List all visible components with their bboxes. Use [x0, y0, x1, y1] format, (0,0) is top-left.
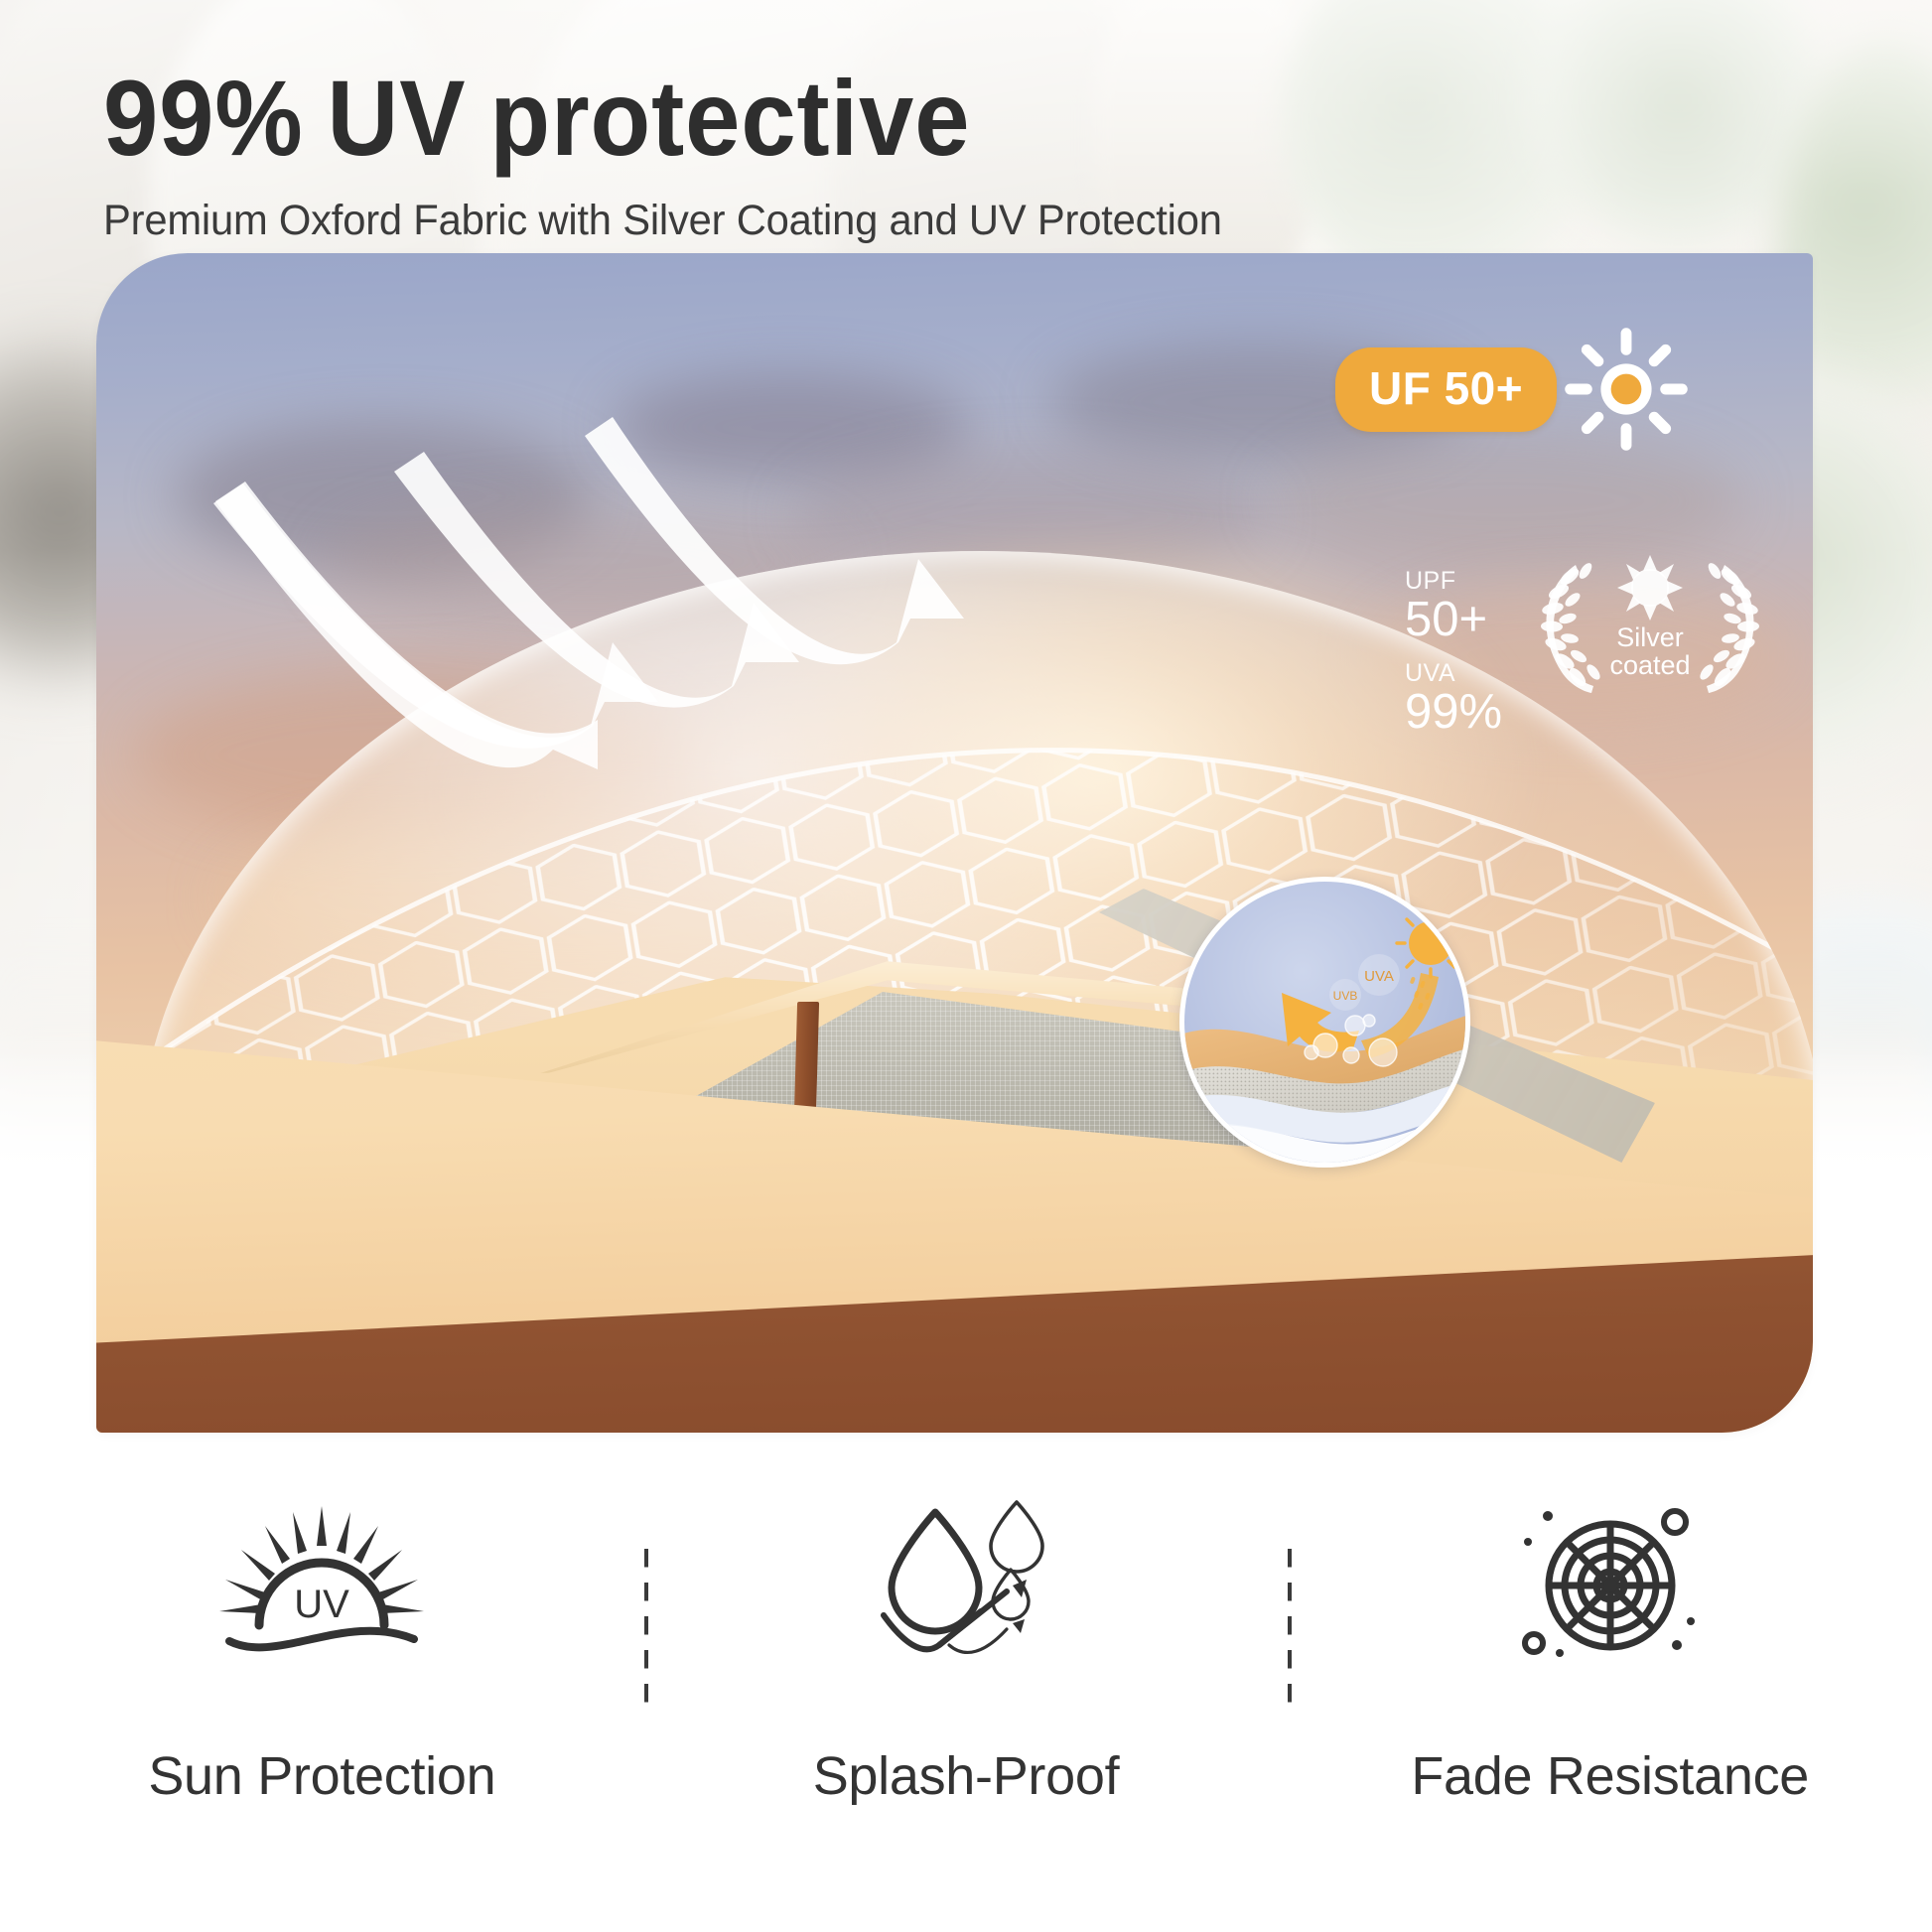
sun-icon	[1563, 326, 1690, 453]
upf-value: 50+	[1405, 596, 1502, 645]
feature-sun-protection: UV Sun Protection	[0, 1489, 644, 1807]
header: 99%UVprotective Premium Oxford Fabric wi…	[103, 62, 1791, 245]
uva-value: 99%	[1405, 688, 1502, 738]
sun-icon	[1617, 555, 1683, 621]
page-title: 99%UVprotective	[103, 62, 1656, 175]
feature-label-splash-proof: Splash-Proof	[813, 1745, 1120, 1807]
hero-product-image: UF 50+ UPF 50+	[96, 253, 1813, 1433]
feature-label-sun-protection: Sun Protection	[148, 1745, 495, 1807]
upf-label: UPF	[1405, 569, 1502, 594]
feature-row: UV Sun Protection	[0, 1489, 1932, 1932]
feature-icon-wrap	[862, 1489, 1070, 1678]
svg-text:UV: UV	[295, 1583, 350, 1626]
upf-row: UPF 50+	[1405, 569, 1502, 645]
laurel-wreath-sun-icon: Silver coated	[1516, 547, 1784, 696]
page-subtitle: Premium Oxford Fabric with Silver Coatin…	[103, 197, 1740, 245]
feature-icon-wrap: UV	[198, 1489, 446, 1678]
uva-label: UVA	[1405, 661, 1502, 686]
svg-text:UVB: UVB	[1333, 989, 1358, 1003]
fabric-layer-inset: UVA UVB	[1179, 877, 1470, 1168]
uva-bubble: UVA	[1358, 954, 1400, 996]
feature-icon-wrap	[1516, 1489, 1705, 1678]
headline-percent: 99%	[103, 58, 304, 178]
laurel-line-2: coated	[1609, 650, 1690, 680]
radial-web-icon	[1516, 1494, 1705, 1673]
headline-protective: protective	[489, 58, 970, 178]
headline-uv: UV	[328, 58, 467, 178]
uvb-bubble: UVB	[1329, 979, 1361, 1011]
feature-splash-proof: Splash-Proof	[644, 1489, 1289, 1807]
water-droplet-repel-icon	[862, 1494, 1070, 1673]
sun-uv-icon: UV	[198, 1494, 446, 1673]
product-infographic: 99%UVprotective Premium Oxford Fabric wi…	[0, 0, 1932, 1932]
feature-fade-resistance: Fade Resistance	[1288, 1489, 1932, 1807]
uva-row: UVA 99%	[1405, 661, 1502, 738]
upf-rating-block: UPF 50+ UVA 99%	[1405, 569, 1502, 754]
svg-text:UVA: UVA	[1364, 968, 1394, 985]
uf-50-badge: UF 50+	[1335, 326, 1690, 453]
uf-badge-label: UF 50+	[1335, 347, 1557, 432]
laurel-line-1: Silver	[1616, 622, 1684, 652]
fabric-layer-cross-section: UVA UVB	[1184, 882, 1470, 1168]
feature-label-fade-resistance: Fade Resistance	[1411, 1745, 1809, 1807]
